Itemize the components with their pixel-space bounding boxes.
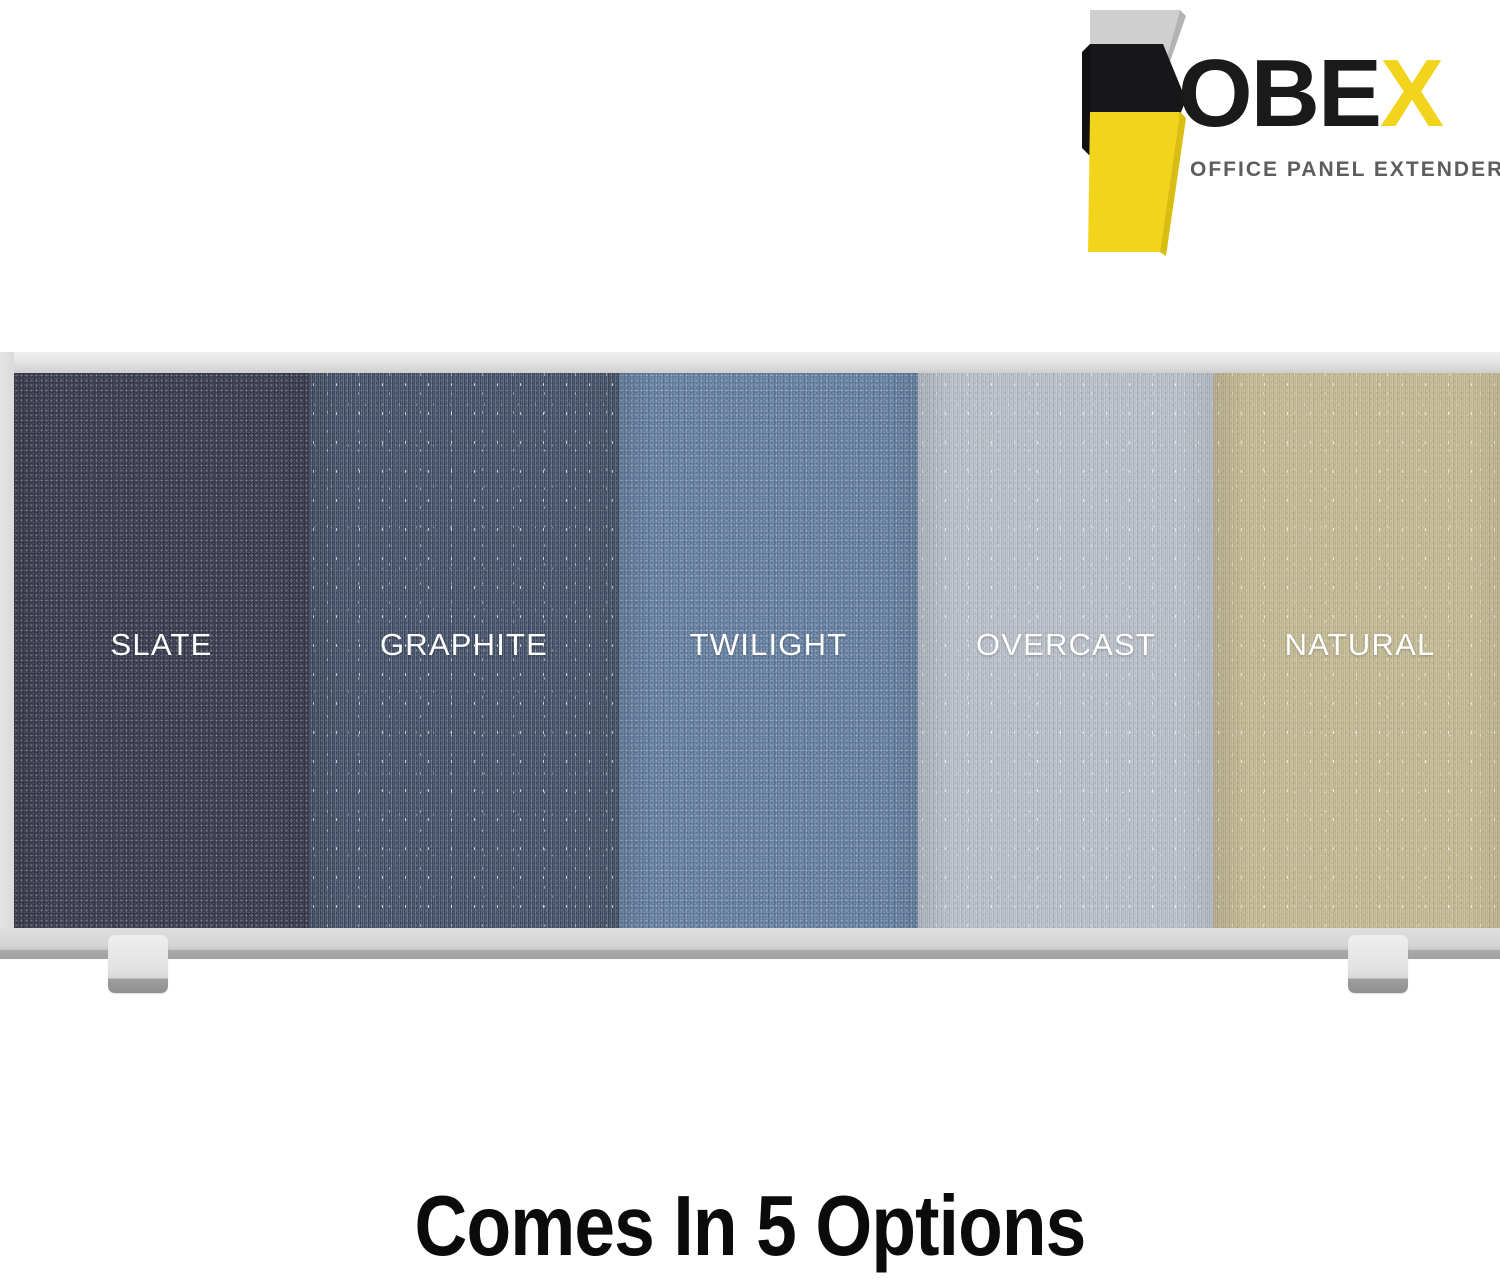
- swatch-label-overcast: OVERCAST: [918, 627, 1214, 663]
- obex-chevron-mark-icon: [1068, 8, 1188, 258]
- caption-text: Comes In 5 Options: [105, 1178, 1395, 1276]
- swatch-label-graphite: GRAPHITE: [309, 627, 619, 663]
- panel-extender-product-image: SLATE GRAPHITE TWILIGHT: [0, 352, 1500, 962]
- frame-left-rail: [0, 352, 14, 959]
- fabric-swatch-overcast[interactable]: OVERCAST: [918, 373, 1214, 928]
- brand-tagline: OFFICE PANEL EXTENDERS: [1190, 158, 1500, 182]
- frame-bottom-rail: [0, 928, 1500, 959]
- swatch-label-twilight: TWILIGHT: [619, 627, 918, 663]
- panel-frame: SLATE GRAPHITE TWILIGHT: [0, 352, 1500, 959]
- wordmark-accent-part: X: [1380, 40, 1442, 147]
- brand-logo: OBEX OFFICE PANEL EXTENDERS: [1068, 8, 1468, 258]
- fabric-swatch-strip: SLATE GRAPHITE TWILIGHT: [14, 373, 1500, 928]
- mount-foot-right: [1348, 935, 1408, 993]
- swatch-label-natural: NATURAL: [1214, 627, 1500, 663]
- fabric-swatch-slate[interactable]: SLATE: [14, 373, 309, 928]
- swatch-label-slate: SLATE: [14, 627, 309, 663]
- fabric-swatch-graphite[interactable]: GRAPHITE: [309, 373, 619, 928]
- fabric-swatch-twilight[interactable]: TWILIGHT: [619, 373, 918, 928]
- wordmark-dark-part: OBE: [1178, 40, 1380, 147]
- obex-wordmark: OBEX: [1178, 46, 1478, 176]
- fabric-swatch-natural[interactable]: NATURAL: [1214, 373, 1500, 928]
- frame-top-rail: [0, 352, 1500, 373]
- mount-foot-left: [108, 935, 168, 993]
